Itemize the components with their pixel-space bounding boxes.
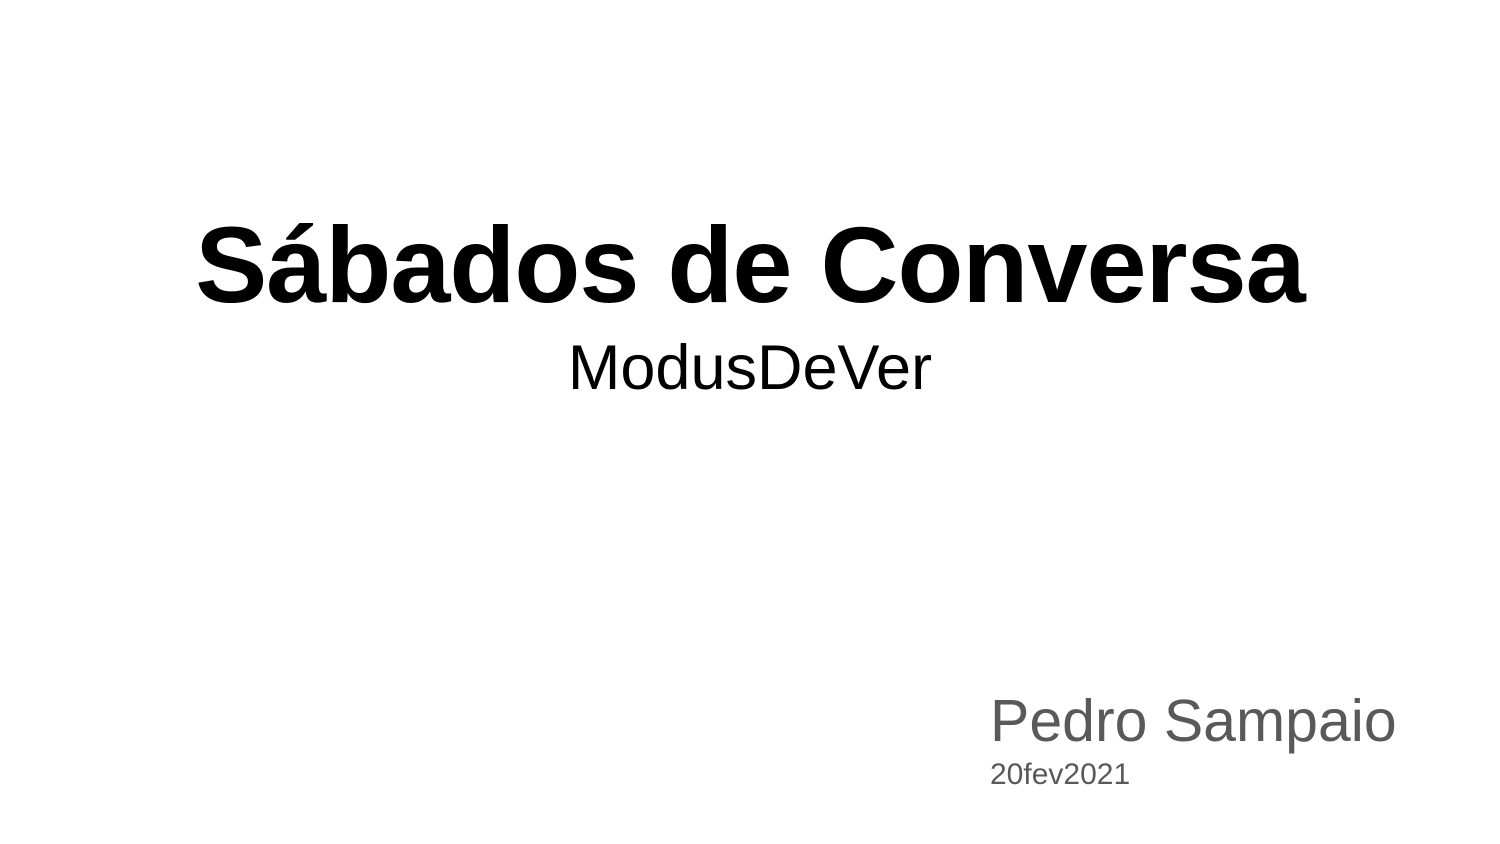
page-subtitle: ModusDeVer — [0, 332, 1500, 404]
title-block: Sábados de Conversa ModusDeVer — [0, 205, 1500, 404]
page-title: Sábados de Conversa — [0, 205, 1500, 326]
presentation-date: 20fev2021 — [990, 760, 1397, 790]
title-slide: Sábados de Conversa ModusDeVer Pedro Sam… — [0, 0, 1500, 844]
author-name: Pedro Sampaio — [990, 692, 1397, 751]
author-block: Pedro Sampaio 20fev2021 — [990, 692, 1397, 790]
